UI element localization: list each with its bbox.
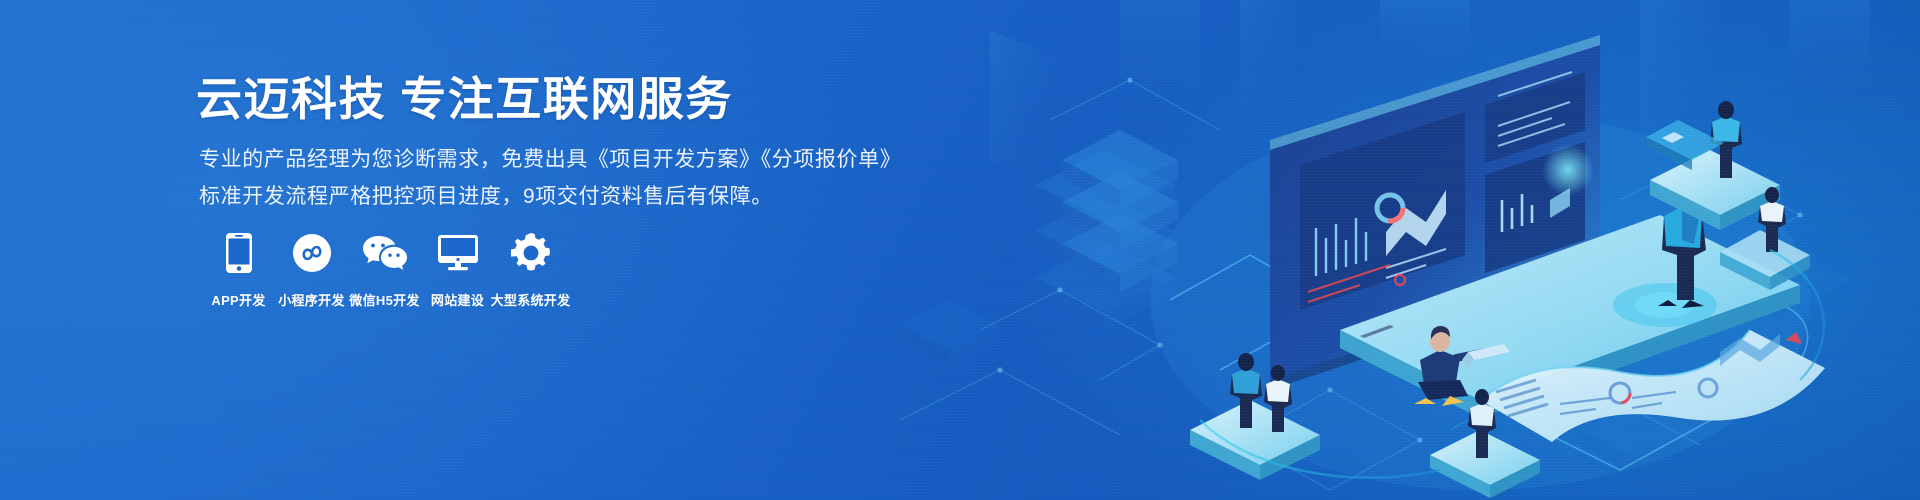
wechat-icon bbox=[363, 232, 407, 274]
service-label: APP开发 bbox=[211, 290, 265, 309]
service-item-app[interactable]: APP开发 bbox=[202, 232, 275, 309]
page-title: 云迈科技 专注互联网服务 bbox=[196, 72, 733, 127]
monitor-icon bbox=[438, 232, 478, 274]
isometric-tech-team-illustration bbox=[920, 0, 1920, 500]
hero-banner: 云迈科技 专注互联网服务 专业的产品经理为您诊断需求，免费出具《项目开发方案》《… bbox=[0, 0, 1920, 500]
service-label: 网站建设 bbox=[431, 290, 484, 309]
service-item-wechat-h5[interactable]: 微信H5开发 bbox=[348, 232, 421, 309]
service-label: 大型系统开发 bbox=[491, 290, 571, 309]
service-label: 微信H5开发 bbox=[349, 290, 419, 309]
mini-program-icon bbox=[293, 232, 331, 274]
gear-icon bbox=[511, 232, 551, 274]
service-item-website[interactable]: 网站建设 bbox=[421, 232, 494, 309]
service-item-large-system[interactable]: 大型系统开发 bbox=[494, 232, 567, 309]
mobile-phone-icon bbox=[226, 232, 252, 274]
subtitle-line-2: 标准开发流程严格把控项目进度，9项交付资料售后有保障。 bbox=[199, 186, 773, 207]
subtitle-line-1: 专业的产品经理为您诊断需求，免费出具《项目开发方案》《分项报价单》 bbox=[199, 149, 901, 170]
banner-content: 云迈科技 专注互联网服务 专业的产品经理为您诊断需求，免费出具《项目开发方案》《… bbox=[196, 0, 956, 500]
service-item-mini-program[interactable]: 小程序开发 bbox=[275, 232, 348, 309]
service-list: APP开发 小程序开发 bbox=[202, 232, 567, 309]
service-label: 小程序开发 bbox=[278, 290, 345, 309]
